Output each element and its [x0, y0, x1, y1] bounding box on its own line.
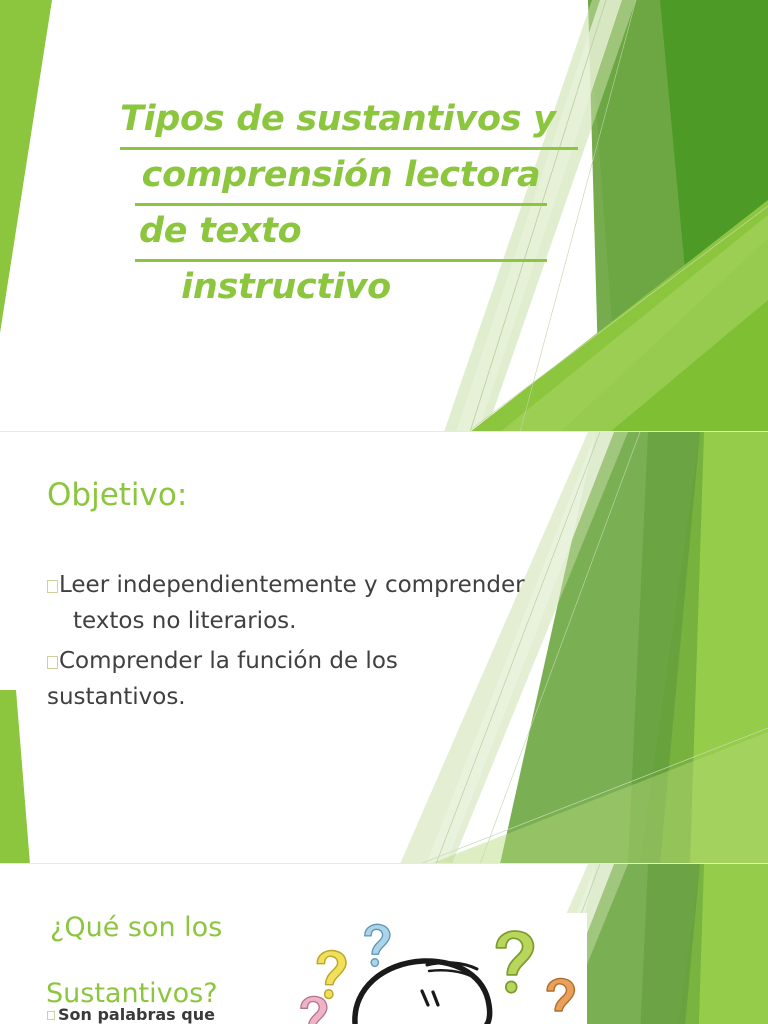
hollow-square-bullet-icon — [47, 1011, 55, 1020]
presentation-scroll-view[interactable]: Tipos de sustantivos y comprensión lecto… — [0, 0, 768, 1024]
list-item-label: Son palabras que — [58, 1005, 215, 1024]
title-line-4: instructivo — [96, 262, 586, 313]
list-item: Comprender la función de los — [47, 647, 592, 675]
list-item-label: Leer independientemente y comprender — [59, 572, 525, 598]
objetivo-bullet-list: Leer independientemente y comprender tex… — [47, 571, 592, 711]
left-wedge-shape — [0, 690, 30, 864]
question-marks-cartoon-illustration — [291, 913, 587, 1024]
list-item-continuation: textos no literarios. — [47, 607, 592, 635]
slide-separator-2 — [0, 863, 768, 864]
sustantivos-heading-line-1: ¿Qué son los — [50, 912, 222, 944]
bright-lower-triangle-2-shape — [560, 238, 768, 432]
dark-stripe-shape — [628, 864, 704, 1024]
question-marks-svg — [291, 913, 587, 1024]
dark-stripe-shape — [628, 432, 704, 864]
right-bright-green-2-shape — [640, 864, 768, 1024]
hollow-square-bullet-icon — [47, 656, 58, 669]
list-item: Leer independientemente y comprender — [47, 571, 592, 599]
list-item-label: Comprender la función de los — [59, 648, 398, 674]
right-bright-green-shape — [660, 864, 768, 1024]
hollow-square-bullet-icon — [47, 580, 58, 593]
right-bright-green-shape — [660, 432, 768, 864]
title-line-2: comprensión lectora — [96, 150, 586, 206]
left-wedge-shape — [0, 0, 52, 333]
right-bright-green-2-shape — [640, 432, 768, 864]
slide-1[interactable]: Tipos de sustantivos y comprensión lecto… — [0, 0, 768, 432]
mid-green-facet-shape — [588, 0, 700, 432]
title-line-3: de texto — [96, 206, 586, 262]
slide-separator-1 — [0, 431, 768, 432]
objetivo-heading: Objetivo: — [47, 477, 187, 513]
right-dark-green-shape — [588, 0, 768, 432]
lower-light-facet-shape — [430, 732, 768, 864]
title-line-1: Tipos de sustantivos y — [96, 94, 586, 150]
slide-1-title: Tipos de sustantivos y comprensión lecto… — [96, 94, 586, 313]
hairline-3 — [420, 728, 768, 864]
list-item-continuation: sustantivos. — [47, 683, 592, 711]
